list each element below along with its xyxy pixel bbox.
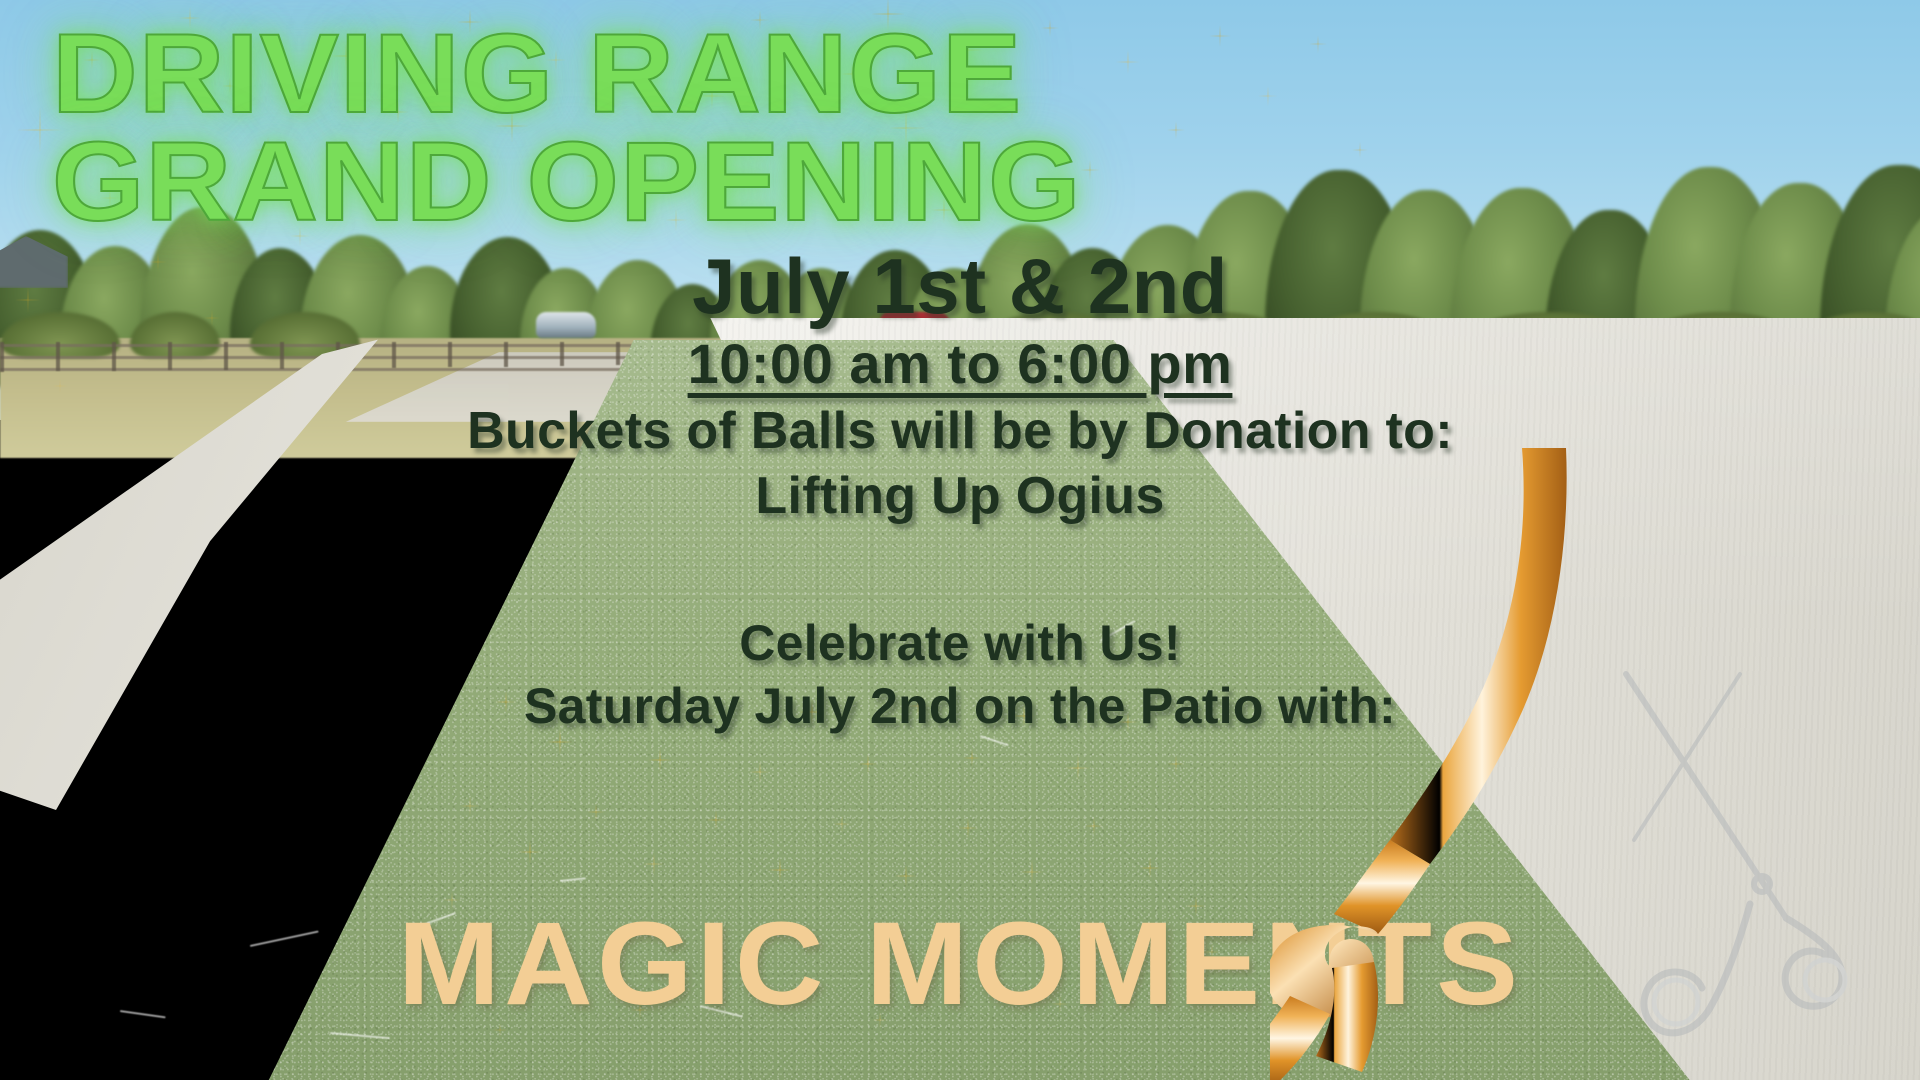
body-copy: July 1st & 2nd 10:00 am to 6:00 pm Bucke… xyxy=(0,245,1920,738)
headline: DRIVING RANGE GRAND OPENING xyxy=(52,20,1082,235)
event-date: July 1st & 2nd xyxy=(0,245,1920,328)
featured-act-name: MAGIC MOMENTS xyxy=(0,905,1920,1023)
donation-line: Buckets of Balls will be by Donation to: xyxy=(0,400,1920,463)
grand-opening-poster: DRIVING RANGE GRAND OPENING July 1st & 2… xyxy=(0,0,1920,1080)
charity-name: Lifting Up Ogius xyxy=(0,464,1920,528)
celebrate-line: Celebrate with Us! xyxy=(0,612,1920,675)
body-spacer xyxy=(0,528,1920,612)
event-hours: 10:00 am to 6:00 pm xyxy=(0,328,1920,401)
headline-line-2: GRAND OPENING xyxy=(52,128,1082,236)
headline-line-1: DRIVING RANGE xyxy=(52,11,1022,136)
saturday-line: Saturday July 2nd on the Patio with: xyxy=(0,675,1920,738)
